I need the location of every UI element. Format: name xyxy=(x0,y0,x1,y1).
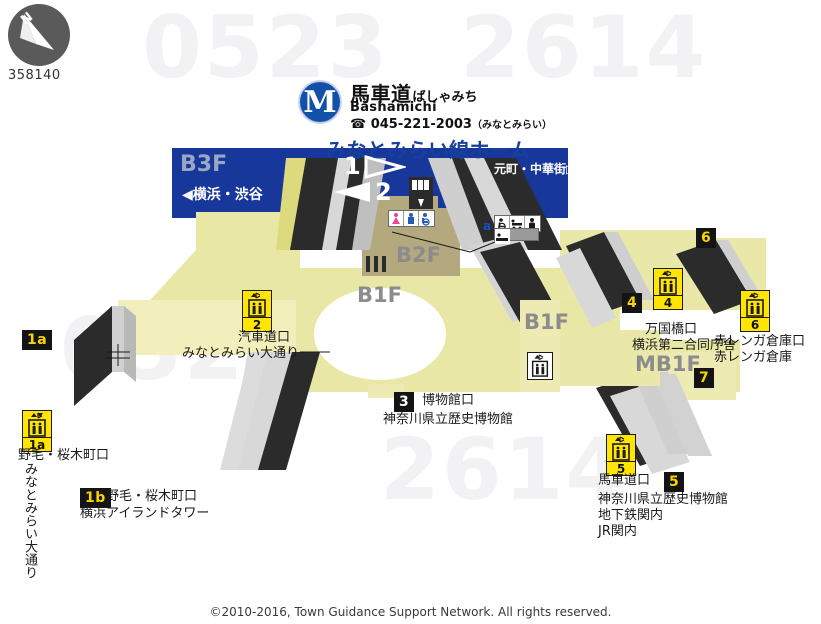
station-telephone: ☎ 045-221-2003（みなとみらい） xyxy=(350,116,552,132)
exit-6-elevator-number: 6 xyxy=(741,317,769,331)
floor-label-b1f-right: B1F xyxy=(524,310,569,334)
floor-label-b3f: B3F xyxy=(180,152,227,177)
exit-5-destination-1: 神奈川県立歴史博物館 xyxy=(598,492,728,508)
exit-badge-7[interactable]: 7 xyxy=(694,368,714,388)
facility-group-a-label: a xyxy=(483,219,491,233)
elevator-icon xyxy=(743,292,767,318)
exit-5-destination-2: 地下鉄関内 xyxy=(598,508,663,524)
direction-right-text: 元町・中華街 xyxy=(494,162,566,176)
map-id-label: 358140 xyxy=(8,68,70,83)
line-title: みなとみらい線ホーム xyxy=(326,134,530,163)
exit-4-label: 万国橋口 xyxy=(645,322,697,338)
exit-4-elevator[interactable]: 4 xyxy=(653,268,683,310)
exit-3-destination: 神奈川県立歴史博物館 xyxy=(383,412,513,428)
exit-badge-1a-top[interactable]: 1a xyxy=(22,330,52,350)
baby-changing-icon xyxy=(495,229,510,244)
exit-1b-label: 野毛・桜木町口 xyxy=(106,489,197,505)
exit-badge-5[interactable]: 5 xyxy=(664,472,684,492)
exit-badge-3[interactable]: 3 xyxy=(394,392,414,412)
footer-copyright: ©2010-2016, Town Guidance Support Networ… xyxy=(0,605,821,619)
exit-5-destination-3: JR関内 xyxy=(598,524,637,540)
floor-label-mb1f: MB1F xyxy=(635,352,701,376)
elevator-icon xyxy=(656,270,680,296)
compass: N 358140 xyxy=(8,4,70,83)
exit-1a-destination: みなとみらい大通り xyxy=(22,462,37,579)
exit-3-label: 博物館口 xyxy=(422,393,474,409)
exit-2-elevator-number: 2 xyxy=(243,317,271,331)
minatomirai-line-logo-icon: M xyxy=(298,80,342,124)
platform-2-arrow-icon xyxy=(330,180,372,204)
accessible-restroom-icon xyxy=(419,211,434,226)
exit-5-elevator[interactable]: 5 xyxy=(606,434,636,476)
exit-badge-4[interactable]: 4 xyxy=(622,293,642,313)
elevator-icon xyxy=(529,354,551,378)
b1f-elevator-marker[interactable] xyxy=(527,352,553,380)
telephone-number: ☎ 045-221-2003 xyxy=(350,117,472,132)
elevator-icon xyxy=(609,436,633,462)
compass-north-icon: N xyxy=(8,4,70,66)
exit-6-label: 赤レンガ倉庫口 xyxy=(714,334,805,350)
platform-number-2: 2 xyxy=(375,178,392,206)
exit-badge-6[interactable]: 6 xyxy=(696,228,716,248)
exit-1a-elevator[interactable]: 1a xyxy=(22,410,52,452)
station-name-en: Bashamichi xyxy=(350,100,437,115)
exit-2-elevator[interactable]: 2 xyxy=(242,290,272,332)
ticket-gate-icon xyxy=(408,176,434,214)
exit-2-destination: みなとみらい大通り xyxy=(182,346,299,362)
platform-direction-left: ◀横浜・渋谷 xyxy=(182,184,263,204)
exit-2-label: 汽車道口 xyxy=(238,330,290,346)
exit-5-label: 馬車道口 xyxy=(598,473,650,489)
ticket-gate-bars xyxy=(366,256,386,272)
exit-6-elevator[interactable]: 6 xyxy=(740,290,770,332)
elevator-icon xyxy=(25,412,49,438)
restroom-icon-group xyxy=(388,210,435,227)
exit-6-destination: 赤レンガ倉庫 xyxy=(714,350,792,366)
mens-restroom-icon xyxy=(404,211,419,226)
exit-4-elevator-number: 4 xyxy=(654,295,682,309)
elevator-icon xyxy=(245,292,269,318)
telephone-note: （みなとみらい） xyxy=(472,120,552,131)
floor-label-b2f: B2F xyxy=(396,243,441,267)
facility-group-a-row2 xyxy=(494,228,539,241)
womens-restroom-icon xyxy=(389,211,404,226)
exit-1b-destination: 横浜アイランドタワー xyxy=(80,506,209,522)
floor-label-b1f-center: B1F xyxy=(357,283,402,307)
logo-letter: M xyxy=(300,82,340,122)
